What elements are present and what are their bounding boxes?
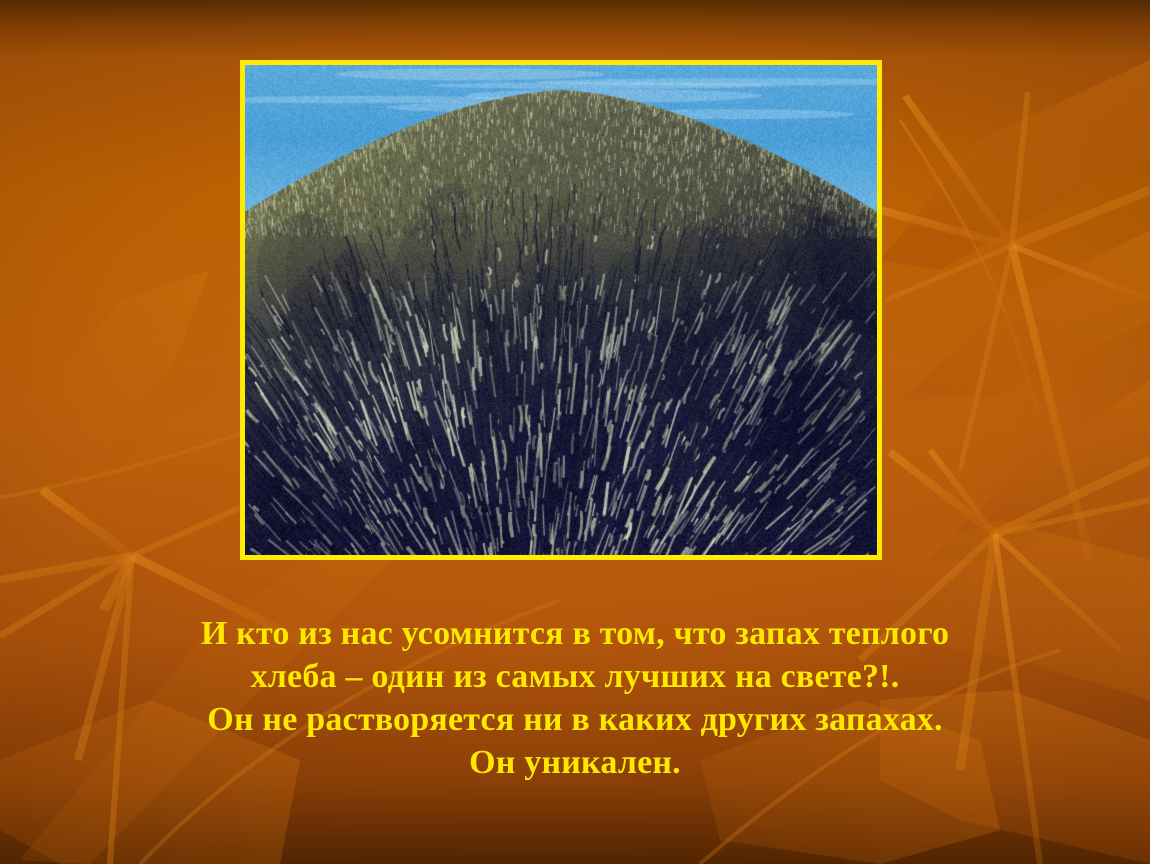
caption-line-4: Он уникален. bbox=[0, 741, 1150, 784]
caption-line-3: Он не растворяется ни в каких других зап… bbox=[0, 698, 1150, 741]
caption-line-2: хлеба – один из самых лучших на свете?!. bbox=[0, 655, 1150, 698]
caption-line-1: И кто из нас усомнится в том, что запах … bbox=[0, 612, 1150, 655]
presentation-slide: И кто из нас усомнится в том, что запах … bbox=[0, 0, 1150, 864]
wheat-field-fisheye-photo bbox=[245, 65, 877, 555]
wheat-field-photo-frame bbox=[240, 60, 882, 560]
slide-caption: И кто из нас усомнится в том, что запах … bbox=[0, 612, 1150, 784]
